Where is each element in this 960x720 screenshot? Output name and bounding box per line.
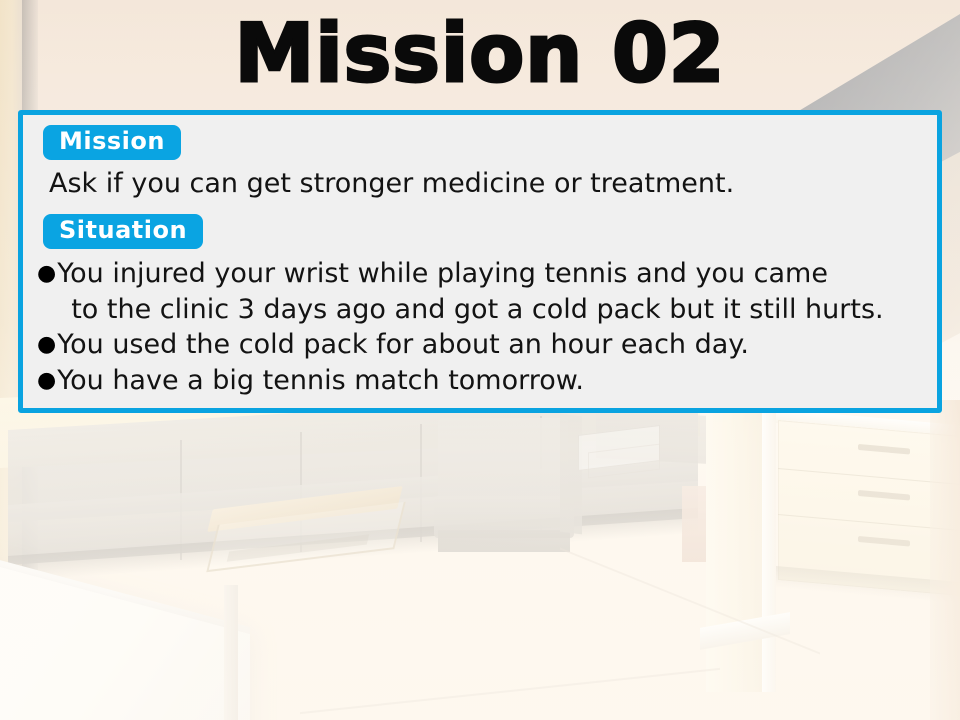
mission-badge: Mission [43,125,181,160]
mission-card: Mission Ask if you can get stronger medi… [18,110,942,413]
bullet-icon: ● [37,256,56,292]
list-item-line: You used the cold pack for about an hour… [57,329,749,360]
list-item: ● You injured your wrist while playing t… [37,256,927,327]
mission-slide: Mission 02 Mission Ask if you can get st… [0,0,960,720]
booth-seat-base [438,530,570,552]
bullet-icon: ● [37,363,56,399]
booth-divider [560,414,582,535]
right-wall-strip [930,400,960,720]
situation-badge: Situation [43,214,203,249]
bullet-icon: ● [37,327,56,363]
page-title: Mission 02 [0,14,960,94]
mission-text: Ask if you can get stronger medicine or … [49,168,734,200]
wall-column-edge [762,402,776,692]
list-item-line: You injured your wrist while playing ten… [57,258,828,289]
list-item: ● You have a big tennis match tomorrow. [37,363,927,399]
reception-counter-edge [224,585,238,720]
wall-column [706,402,770,692]
list-item-body: You used the cold pack for about an hour… [57,327,927,363]
list-item-line: You have a big tennis match tomorrow. [57,365,584,396]
list-item-body: You have a big tennis match tomorrow. [57,363,927,399]
list-item: ● You used the cold pack for about an ho… [37,327,927,363]
situation-list: ● You injured your wrist while playing t… [37,256,927,399]
list-item-line-continued: to the clinic 3 days ago and got a cold … [57,292,927,328]
list-item-body: You injured your wrist while playing ten… [57,256,927,327]
